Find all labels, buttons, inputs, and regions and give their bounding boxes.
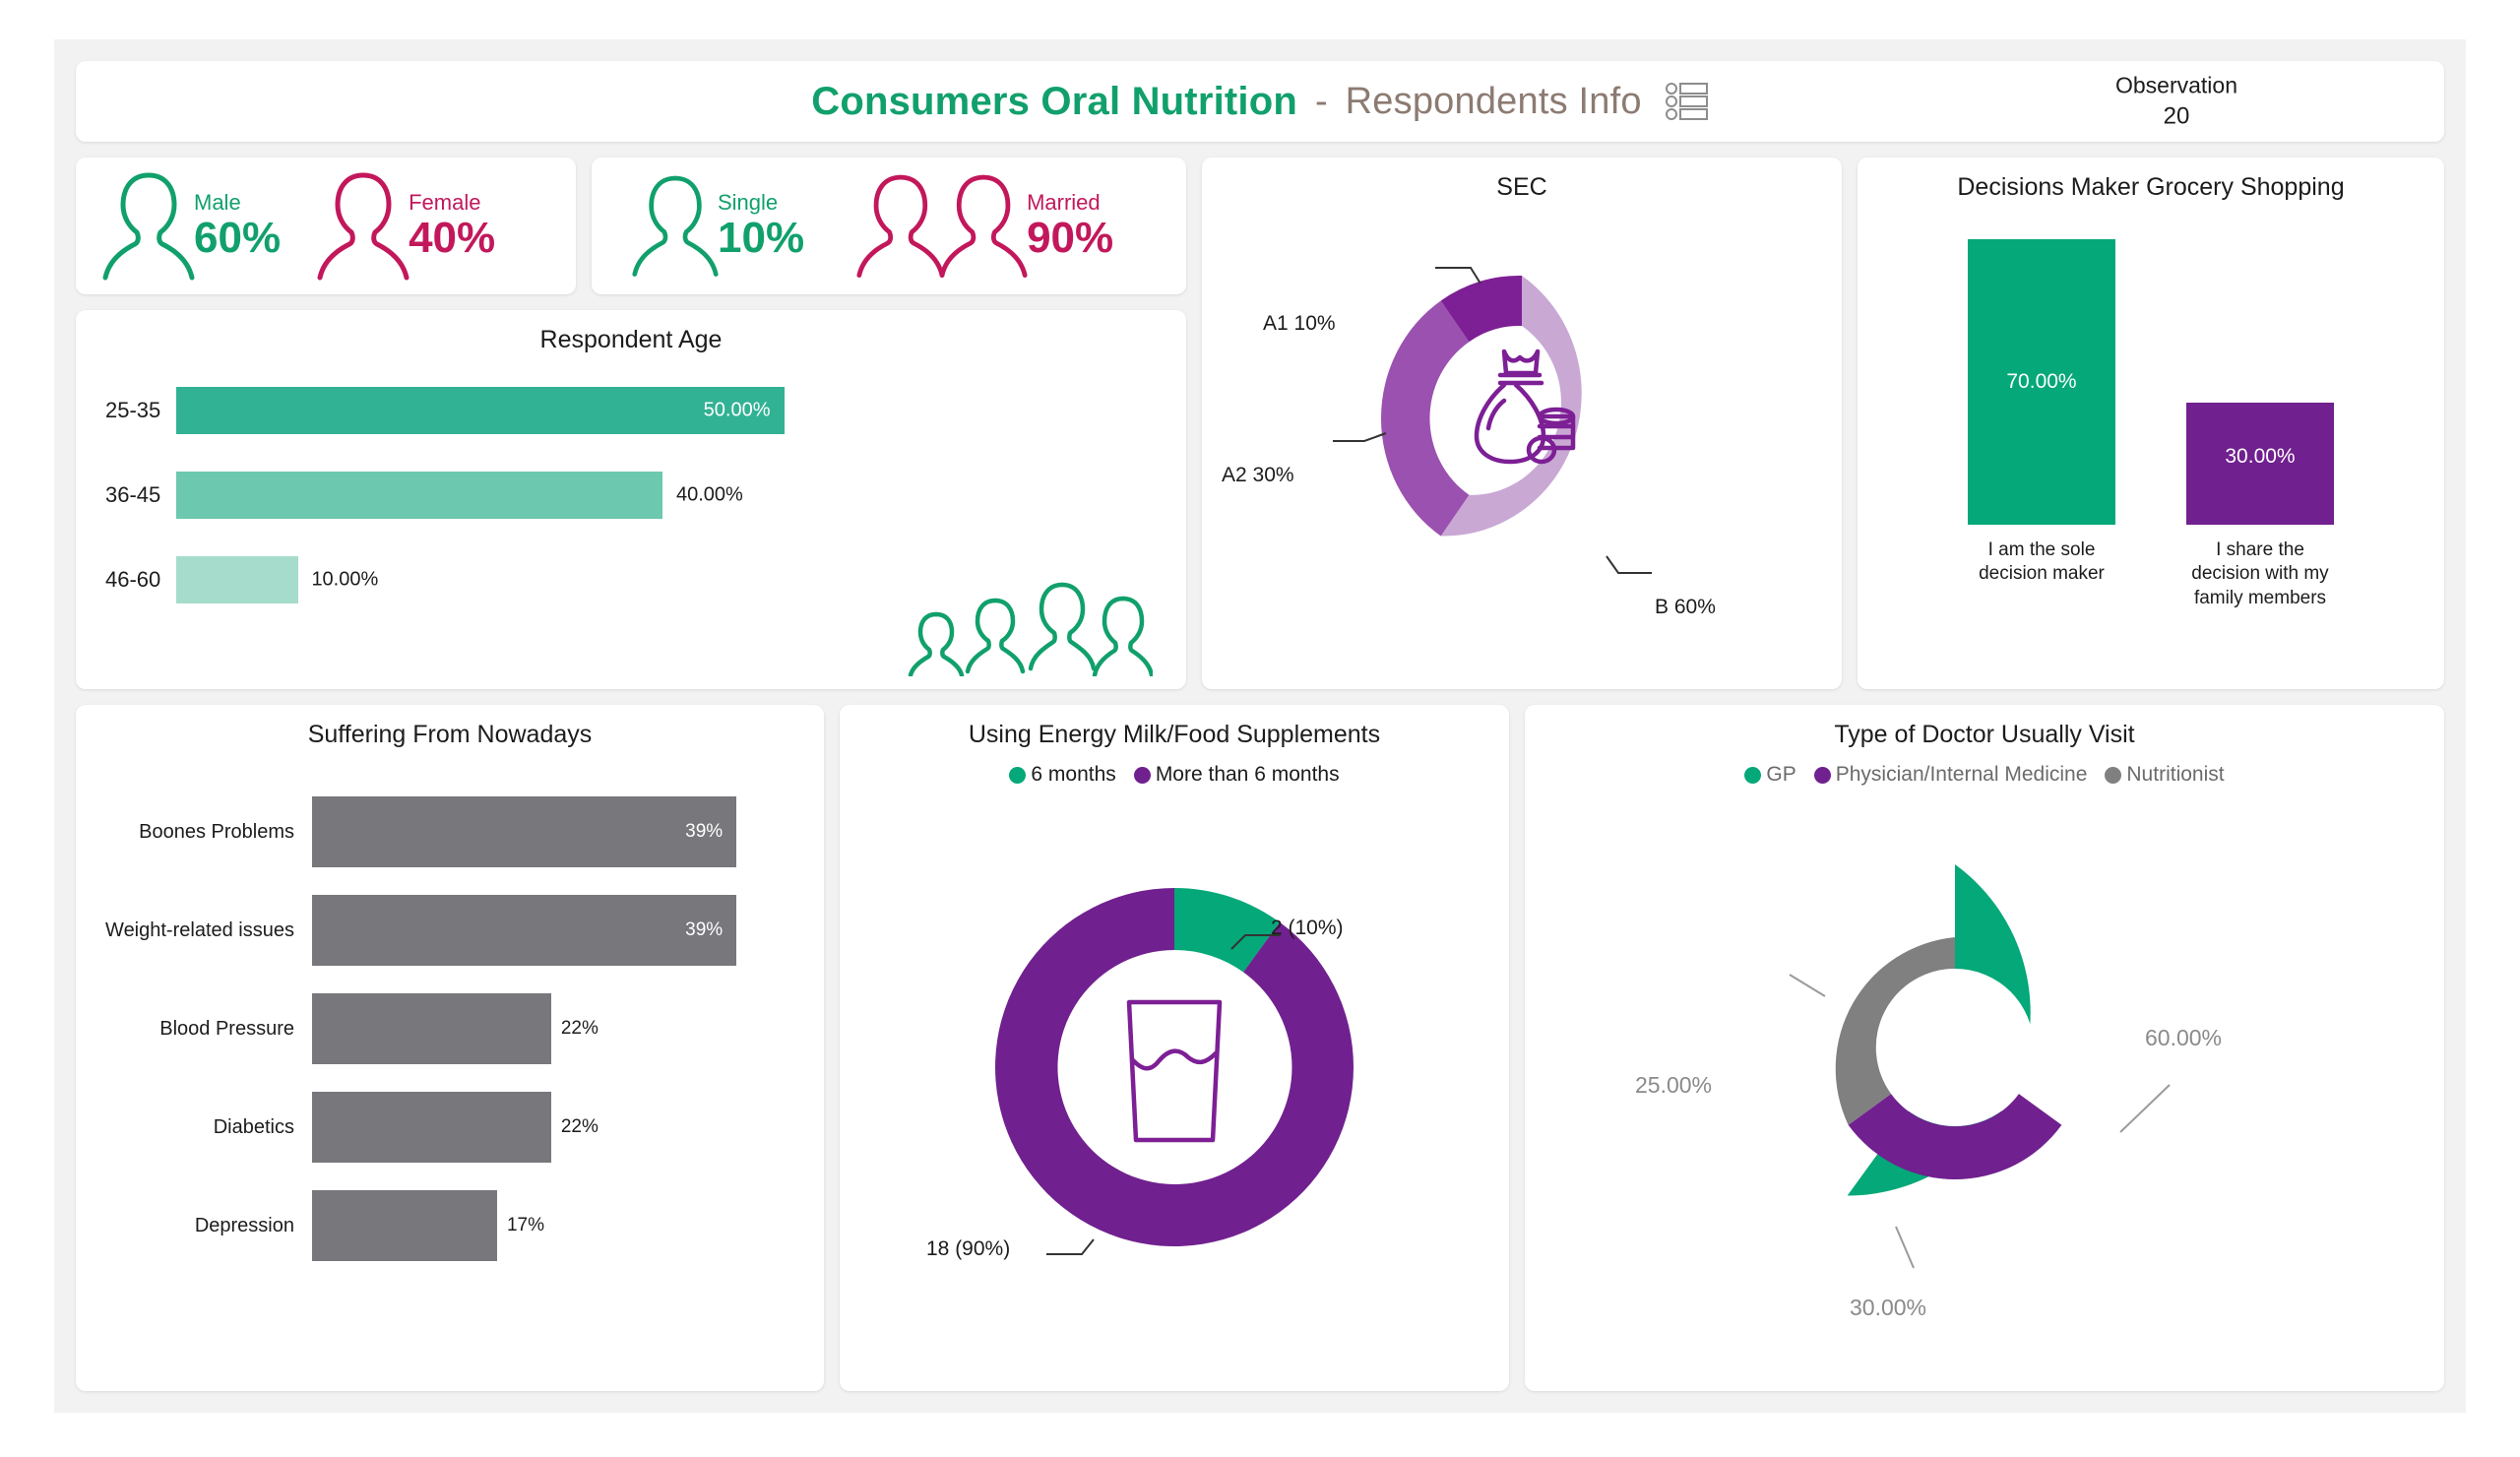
marital-stats: Single 10% (592, 158, 1186, 294)
age-bar[interactable]: 50.00% (176, 387, 785, 434)
dashboard-row-top: Male 60% (76, 158, 2444, 689)
age-bar-row: 25-35 50.00% (105, 380, 1157, 441)
legend-label: Nutritionist (2126, 763, 2224, 787)
legend-label: Physician/Internal Medicine (1836, 763, 2088, 787)
demographics-row: Male 60% (76, 158, 1186, 294)
female-stat-group: Female 40% (316, 165, 495, 286)
female-stat: Female 40% (409, 192, 495, 260)
decisions-maker-chart: 70.00% 30.00% I am the sole decision mak… (1858, 202, 2444, 635)
sec-donut-chart: A1 10% A2 30% B 60% (1202, 202, 1842, 635)
suffering-bar-track: 22% (312, 1092, 794, 1163)
doctor-type-card: Type of Doctor Usually Visit GP Physicia… (1525, 705, 2444, 1391)
energy-milk-title: Using Energy Milk/Food Supplements (840, 705, 1509, 749)
age-bar[interactable] (176, 556, 298, 603)
legend-label: GP (1766, 763, 1795, 787)
sec-title: SEC (1202, 158, 1842, 202)
decisions-maker-labels: I am the sole decision maker I share the… (1858, 538, 2444, 610)
single-label: Single (718, 192, 778, 214)
sec-leader-a2 (1333, 433, 1386, 441)
doctor-label-physician: 30.00% (1850, 1295, 1926, 1321)
married-label: Married (1027, 192, 1101, 214)
dashboard-row-bottom: Suffering From Nowadays Boones Problems … (76, 705, 2444, 1391)
energy-milk-legend: 6 months More than 6 months (840, 763, 1509, 787)
dm-category-label: I am the sole decision maker (1968, 538, 2115, 610)
suffering-bar-row: Diabetics 22% (95, 1078, 794, 1176)
male-value: 60% (194, 217, 281, 260)
dashboard-header: Consumers Oral Nutrition - Respondents I… (76, 61, 2444, 142)
gender-card: Male 60% (76, 158, 576, 294)
people-group-icon (907, 573, 1153, 681)
age-bar-value: 40.00% (676, 484, 743, 507)
decisions-maker-card: Decisions Maker Grocery Shopping 70.00% … (1858, 158, 2444, 689)
energy-label-6months: 2 (10%) (1271, 917, 1344, 940)
title-subtitle: Respondents Info (1346, 81, 1642, 123)
suffering-bar-row: Boones Problems 39% (95, 783, 794, 881)
person-icon (631, 165, 720, 286)
female-label: Female (409, 192, 480, 214)
age-category-label: 36-45 (105, 482, 176, 508)
two-people-icon (855, 165, 1029, 286)
sec-leader-a1 (1435, 268, 1480, 284)
suffering-card: Suffering From Nowadays Boones Problems … (76, 705, 824, 1391)
left-column: Male 60% (76, 158, 1186, 689)
suffering-bar-row: Weight-related issues 39% (95, 881, 794, 980)
legend-item-physician[interactable]: Physician/Internal Medicine (1814, 763, 2088, 787)
decisions-maker-plot: 70.00% 30.00% (1858, 220, 2444, 525)
suffering-category-label: Blood Pressure (95, 1018, 312, 1041)
legend-dot-icon (1134, 767, 1151, 784)
suffering-bar-track: 39% (312, 895, 794, 966)
sec-label-b: B 60% (1655, 596, 1716, 619)
legend-dot-icon (2105, 767, 2121, 784)
sec-leader-b (1606, 556, 1652, 573)
dm-bar-value: 70.00% (1968, 370, 2115, 394)
suffering-bar-track: 39% (312, 796, 794, 867)
suffering-bar-value: 17% (507, 1215, 544, 1236)
doctor-type-title: Type of Doctor Usually Visit (1525, 705, 2444, 749)
suffering-bar-value: 22% (561, 1116, 598, 1138)
suffering-title: Suffering From Nowadays (76, 705, 824, 749)
age-category-label: 46-60 (105, 567, 176, 593)
respondent-age-card: Respondent Age 25-35 50.00% 36-45 (76, 310, 1186, 689)
dm-bar-sole[interactable]: 70.00% (1968, 239, 2115, 525)
list-icon[interactable] (1666, 81, 1709, 122)
age-bar-track: 50.00% (176, 387, 1157, 434)
married-value: 90% (1027, 217, 1113, 260)
suffering-bar-value: 39% (685, 919, 723, 941)
title-main: Consumers Oral Nutrition (811, 80, 1297, 124)
person-icon (316, 165, 410, 286)
dashboard-shell: Consumers Oral Nutrition - Respondents I… (54, 39, 2466, 1413)
dm-category-label: I share the decision with my family memb… (2186, 538, 2334, 610)
male-stat: Male 60% (194, 192, 281, 260)
age-bar-value: 50.00% (704, 400, 771, 422)
male-label: Male (194, 192, 241, 214)
suffering-bar[interactable] (312, 1092, 551, 1163)
age-category-label: 25-35 (105, 398, 176, 423)
suffering-category-label: Boones Problems (95, 821, 312, 844)
sec-slice-a2 (1381, 301, 1469, 537)
milk-glass-icon (1129, 1002, 1220, 1140)
suffering-bar[interactable]: 39% (312, 895, 736, 966)
dm-bar-value: 30.00% (2186, 445, 2334, 469)
legend-dot-icon (1744, 767, 1761, 784)
doctor-leader-nutritionist (1790, 975, 1825, 996)
doctor-label-nutritionist: 25.00% (1635, 1072, 1712, 1099)
suffering-category-label: Diabetics (95, 1116, 312, 1139)
page-title: Consumers Oral Nutrition - Respondents I… (811, 80, 1708, 124)
dm-bar-shared[interactable]: 30.00% (2186, 403, 2334, 525)
marital-status-card: Single 10% (592, 158, 1186, 294)
married-stat-group: Married 90% (855, 165, 1113, 286)
observation-value: 20 (2115, 100, 2237, 132)
single-stat-group: Single 10% (631, 165, 804, 286)
legend-item-gp[interactable]: GP (1744, 763, 1795, 787)
suffering-bar-row: Depression 17% (95, 1176, 794, 1275)
energy-milk-donut-chart: 2 (10%) 18 (90%) (840, 787, 1509, 1308)
age-bar[interactable] (176, 472, 662, 519)
suffering-bar[interactable] (312, 1190, 497, 1261)
legend-item-nutritionist[interactable]: Nutritionist (2105, 763, 2224, 787)
gender-stats: Male 60% (76, 158, 576, 294)
energy-leader-more (1046, 1239, 1094, 1254)
suffering-category-label: Weight-related issues (95, 919, 312, 942)
legend-item-more-than-6months[interactable]: More than 6 months (1134, 763, 1340, 787)
legend-dot-icon (1009, 767, 1026, 784)
suffering-category-label: Depression (95, 1215, 312, 1237)
suffering-chart: Boones Problems 39% Weight-related issue… (76, 749, 824, 1285)
female-value: 40% (409, 217, 495, 260)
legend-item-6months[interactable]: 6 months (1009, 763, 1115, 787)
doctor-type-donut-chart: 60.00% 25.00% 30.00% (1525, 787, 2444, 1308)
doctor-type-legend: GP Physician/Internal Medicine Nutrition… (1525, 763, 2444, 787)
energy-label-more: 18 (90%) (926, 1237, 1010, 1261)
age-bar-value: 10.00% (311, 569, 378, 592)
observation-label: Observation (2115, 70, 2237, 100)
suffering-bar-value: 22% (561, 1018, 598, 1040)
doctor-leader-physician (1896, 1227, 1914, 1268)
legend-dot-icon (1814, 767, 1831, 784)
respondent-age-title: Respondent Age (76, 310, 1186, 354)
married-stat: Married 90% (1027, 192, 1113, 260)
legend-label: More than 6 months (1156, 763, 1340, 787)
dashboard-page: Consumers Oral Nutrition - Respondents I… (0, 0, 2520, 1457)
suffering-bar[interactable]: 39% (312, 796, 736, 867)
sec-label-a2: A2 30% (1222, 464, 1294, 487)
respondent-age-chart: 25-35 50.00% 36-45 40.00% (76, 354, 1186, 689)
suffering-bar-row: Blood Pressure 22% (95, 980, 794, 1078)
person-icon (101, 165, 196, 286)
male-stat-group: Male 60% (101, 165, 281, 286)
suffering-bar-value: 39% (685, 821, 723, 843)
suffering-bar-track: 22% (312, 993, 794, 1064)
doctor-label-gp: 60.00% (2145, 1025, 2222, 1051)
decisions-maker-title: Decisions Maker Grocery Shopping (1858, 158, 2444, 202)
suffering-bar[interactable] (312, 993, 551, 1064)
doctor-leader-gp (2120, 1085, 2170, 1132)
suffering-bar-track: 17% (312, 1190, 794, 1261)
single-value: 10% (718, 217, 804, 260)
energy-milk-card: Using Energy Milk/Food Supplements 6 mon… (840, 705, 1509, 1391)
legend-label: 6 months (1031, 763, 1115, 787)
age-bar-row: 36-45 40.00% (105, 465, 1157, 526)
observation-counter: Observation 20 (2115, 70, 2237, 132)
single-stat: Single 10% (718, 192, 804, 260)
sec-label-a1: A1 10% (1263, 312, 1336, 336)
sec-card: SEC (1202, 158, 1842, 689)
age-bar-track: 40.00% (176, 472, 1157, 519)
title-separator: - (1315, 81, 1328, 123)
